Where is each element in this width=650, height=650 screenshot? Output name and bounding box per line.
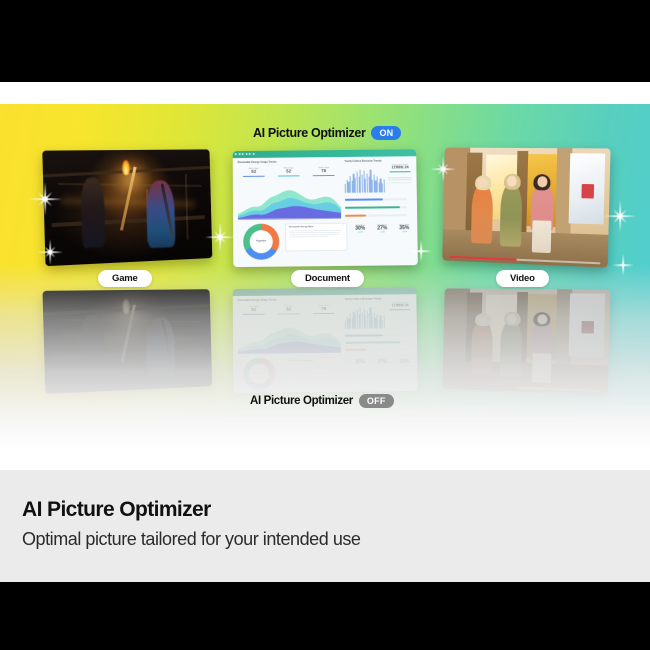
hero-bottom-fade xyxy=(0,264,650,449)
hero-section: Renewable Energy Usage Trends Solar Outp… xyxy=(0,104,650,449)
kpi-value: 52 xyxy=(240,170,268,175)
dashboard-kpi: Solar Output 52 xyxy=(240,168,268,177)
page-title: AI Picture Optimizer xyxy=(22,498,628,522)
mode-label-video[interactable]: Video xyxy=(496,270,549,287)
dashboard-on: Renewable Energy Usage Trends Solar Outp… xyxy=(233,149,418,267)
screen-game-on[interactable] xyxy=(42,149,212,266)
status-badge-on: ON xyxy=(371,126,401,140)
video-artwork-on xyxy=(442,148,610,268)
mode-label-document[interactable]: Document xyxy=(291,270,364,287)
dashboard-kpi: Wind Output 52 xyxy=(275,167,303,176)
slide-stage: Renewable Energy Usage Trends Solar Outp… xyxy=(0,82,650,582)
kpi-value: 78 xyxy=(310,169,338,174)
emission-kpi: Scope 3 1.2K xyxy=(398,165,412,172)
dashboard-kpi: Hydro Output 78 xyxy=(310,167,338,176)
dashboard-left-title: Renewable Energy Usage Trends xyxy=(238,161,277,164)
mode-label-game[interactable]: Game xyxy=(98,270,152,287)
donut-center-sub: 2024 / 2025 xyxy=(257,242,265,243)
percent-card: Hydro Share 35% +3.6% xyxy=(395,224,413,233)
progress-bar xyxy=(345,214,407,217)
percent-card: Wind Share 27% +1.4% xyxy=(373,224,391,233)
window-controls[interactable] xyxy=(235,153,254,155)
game-artwork-on xyxy=(42,149,212,266)
page-subtitle: Optimal picture tailored for your intend… xyxy=(22,529,628,550)
donut-chart: Proportion 2024 / 2025 xyxy=(243,223,279,259)
screen-document-on[interactable]: Renewable Energy Usage Trends Solar Outp… xyxy=(233,149,418,267)
dashboard-right-title: Yearly Carbon Emission Trends xyxy=(344,160,381,163)
kpi-value: 1.2K xyxy=(398,166,412,170)
slide-frame: Renewable Energy Usage Trends Solar Outp… xyxy=(0,0,650,650)
progress-bar xyxy=(345,206,407,209)
note-card: Renewable Energy Ratio xyxy=(285,223,347,252)
kpi-value: 52 xyxy=(275,169,303,174)
optimizer-header-off: AI Picture Optimizer OFF xyxy=(250,394,394,408)
screen-video-on[interactable] xyxy=(442,148,610,268)
percent-delta: +1.4% xyxy=(373,232,391,234)
optimizer-title-on: AI Picture Optimizer xyxy=(253,126,365,140)
caption-panel: AI Picture Optimizer Optimal picture tai… xyxy=(0,470,650,582)
progress-bar xyxy=(345,198,407,201)
status-badge-off: OFF xyxy=(359,394,394,408)
note-title: Renewable Energy Ratio xyxy=(289,226,343,229)
optimizer-header-on: AI Picture Optimizer ON xyxy=(253,126,401,140)
percent-delta: +3.6% xyxy=(395,231,413,233)
area-chart xyxy=(238,183,341,220)
percent-delta: +2.1% xyxy=(351,232,369,234)
percent-card: Solar Share 30% +2.1% xyxy=(351,225,369,234)
emission-bar-chart xyxy=(345,168,385,192)
optimizer-title-off: AI Picture Optimizer xyxy=(250,395,353,407)
